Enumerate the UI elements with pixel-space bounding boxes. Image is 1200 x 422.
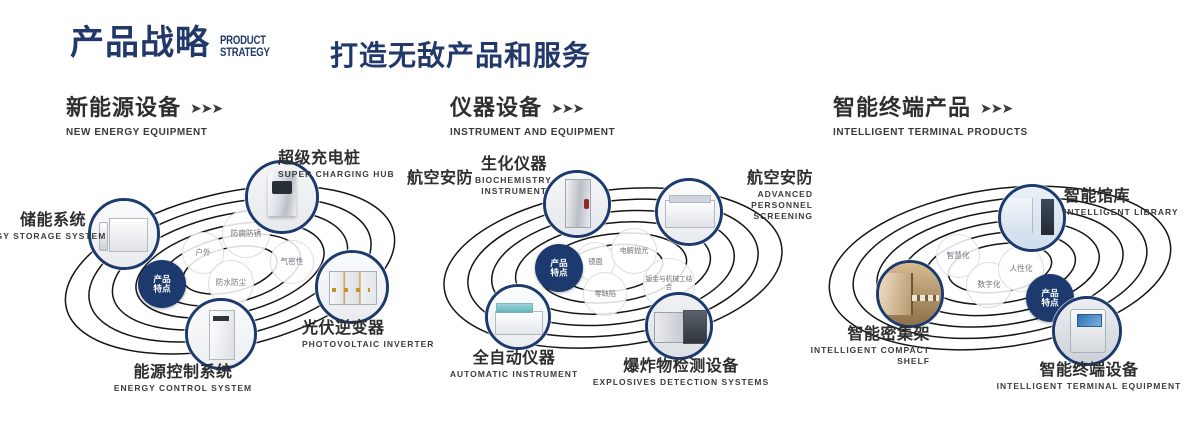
feature-bubble-label: 数字化 [977,281,1000,290]
core-bubble-line1: 产品 [1041,288,1058,298]
caption-cn: 智能终端设备 [994,360,1184,379]
section-heading-intelligent-terminal: 智能终端产品 ➤➤➤ INTELLIGENT TERMINAL PRODUCTS [833,96,1038,138]
energy-control-system-icon [188,301,254,367]
caption-intelligent-compact-shelf: 智能密集架 INTELLIGENT COMPACT SHELF [796,324,930,367]
caption-en: ENERGY STORAGE SYSTEM [0,231,86,242]
caption-cn: 智能密集架 [796,324,930,343]
caption-cn: 储能系统 [0,210,86,229]
feature-bubble-label: 镜面 [588,258,602,266]
poster-canvas: 产品战略 PRODUCT STRATEGY 打造无敌产品和服务 新能源设备 ➤➤… [0,0,1200,422]
feature-bubble-zero-defect: 零缺陷 [583,272,627,316]
caption-cn: 智能馆库 [1064,186,1179,205]
core-bubble-line2: 特点 [550,268,567,278]
caption-aviation-security: 航空安防 [393,168,473,187]
caption-cn: 爆炸物检测设备 [591,356,771,375]
caption-cn: 能源控制系统 [88,362,278,381]
caption-intelligent-library: 智能馆库 INTELLIGENT LIBRARY [1064,186,1179,218]
caption-explosives-detection-systems: 爆炸物检测设备 EXPLOSIVES DETECTION SYSTEMS [591,356,771,388]
header-subtitle: 打造无敌产品和服务 [330,34,591,74]
caption-advanced-personnel-screening: 航空安防 ADVANCED PERSONNEL SCREENING [701,168,813,222]
caption-energy-storage-system: 储能系统 ENERGY STORAGE SYSTEM [0,210,86,242]
feature-bubble-label: 智慧化 [946,252,969,261]
feature-bubble-label: 气密性 [280,258,303,267]
chevron-right-icon: ➤➤➤ [551,96,583,122]
caption-cn: 生化仪器 [475,154,547,173]
caption-en: BIOCHEMISTRY INSTRUMENT [475,175,547,197]
core-bubble-product-features: 产品特点 [138,260,186,308]
caption-automatic-instrument: 全自动仪器 AUTOMATIC INSTRUMENT [429,348,599,380]
node-intelligent-terminal-equipment[interactable] [1052,296,1122,366]
feature-bubble-label: 零缺陷 [594,290,616,298]
chevron-right-icon: ➤➤➤ [190,96,222,122]
section-heading-new-energy: 新能源设备 ➤➤➤ NEW ENERGY EQUIPMENT [66,96,222,138]
core-bubble-line1: 产品 [550,258,567,268]
core-bubble-line1: 产品 [153,274,170,284]
section-heading-cn: 新能源设备 ➤➤➤ [66,96,222,122]
core-bubble-line2: 特点 [153,284,170,294]
feature-bubble-label: 电解抛光 [620,247,649,255]
feature-bubble-label: 户外 [195,249,210,258]
caption-biochemistry-instrument: 生化仪器 BIOCHEMISTRY INSTRUMENT [475,154,547,197]
section-heading-label: 仪器设备 [450,96,542,122]
cluster-instrument: 镜面 电解抛光 零缺陷 钣金与机械工结合 产品特点 航空安防 生化仪 [413,150,813,410]
header-title-en-line2: STRATEGY [220,46,270,58]
node-explosives-detection-systems[interactable] [645,292,713,360]
node-photovoltaic-inverter[interactable] [315,250,389,324]
section-heading-label: 智能终端产品 [833,96,971,122]
caption-energy-control-system: 能源控制系统 ENERGY CONTROL SYSTEM [88,362,278,394]
caption-en: INTELLIGENT TERMINAL EQUIPMENT [994,381,1184,392]
node-automatic-instrument[interactable] [485,284,551,350]
feature-bubble-label: 防水防尘 [216,279,247,288]
intelligent-terminal-equipment-icon [1055,299,1119,363]
caption-en: EXPLOSIVES DETECTION SYSTEMS [591,377,771,388]
feature-bubble-label: 钣金与机械工结合 [645,276,693,291]
section-heading-cn: 智能终端产品 ➤➤➤ [833,96,1038,122]
header-title-cn: 产品战略 [70,26,210,60]
biochemistry-instrument-icon [546,173,608,235]
caption-intelligent-terminal-equipment: 智能终端设备 INTELLIGENT TERMINAL EQUIPMENT [994,360,1184,392]
section-heading-en: INTELLIGENT TERMINAL PRODUCTS [833,126,1028,138]
explosives-detection-systems-icon [648,295,710,357]
caption-super-charging-hub: 超级充电桩 SUPER CHARGING HUB [278,148,395,180]
intelligent-library-icon [1001,187,1063,249]
intelligent-compact-shelf-icon [879,263,941,325]
node-biochemistry-instrument[interactable] [543,170,611,238]
caption-en: AUTOMATIC INSTRUMENT [429,369,599,380]
caption-cn: 超级充电桩 [278,148,395,167]
chevron-right-icon: ➤➤➤ [980,96,1012,122]
caption-en: INTELLIGENT LIBRARY [1064,207,1179,218]
section-heading-cn: 仪器设备 ➤➤➤ [450,96,624,122]
section-heading-instrument: 仪器设备 ➤➤➤ INSTRUMENT AND EQUIPMENT [450,96,624,138]
caption-cn: 航空安防 [701,168,813,187]
node-intelligent-library[interactable] [998,184,1066,252]
node-energy-control-system[interactable] [185,298,257,370]
caption-cn: 航空安防 [393,168,473,187]
automatic-instrument-icon [488,287,548,347]
cluster-intelligent-terminal: 智慧化 数字化 人性化 产品特点 智能馆库 INTELLIGENT LIBRAR… [800,150,1200,410]
caption-en: ENERGY CONTROL SYSTEM [88,383,278,394]
photovoltaic-inverter-icon [318,253,386,321]
section-heading-en: NEW ENERGY EQUIPMENT [66,126,214,138]
node-intelligent-compact-shelf[interactable] [876,260,944,328]
section-heading-en: INSTRUMENT AND EQUIPMENT [450,126,615,138]
feature-bubble-airtight: 气密性 [270,240,314,284]
header-title-en: PRODUCT STRATEGY [220,34,270,58]
caption-en: INTELLIGENT COMPACT SHELF [796,345,930,367]
feature-bubble-label: 人性化 [1009,265,1032,274]
core-bubble-label: 产品特点 [550,258,567,277]
core-bubble-product-features: 产品特点 [535,244,583,292]
cluster-new-energy: 户外 防腐防锈 防水防尘 气密性 产品特点 储能系统 ENERGY [30,150,430,410]
section-heading-label: 新能源设备 [66,96,181,122]
caption-en: ADVANCED PERSONNEL SCREENING [701,189,813,222]
caption-en: SUPER CHARGING HUB [278,169,395,180]
poster-header: 产品战略 PRODUCT STRATEGY [70,26,282,60]
core-bubble-label: 产品特点 [153,274,170,293]
caption-cn: 全自动仪器 [429,348,599,367]
